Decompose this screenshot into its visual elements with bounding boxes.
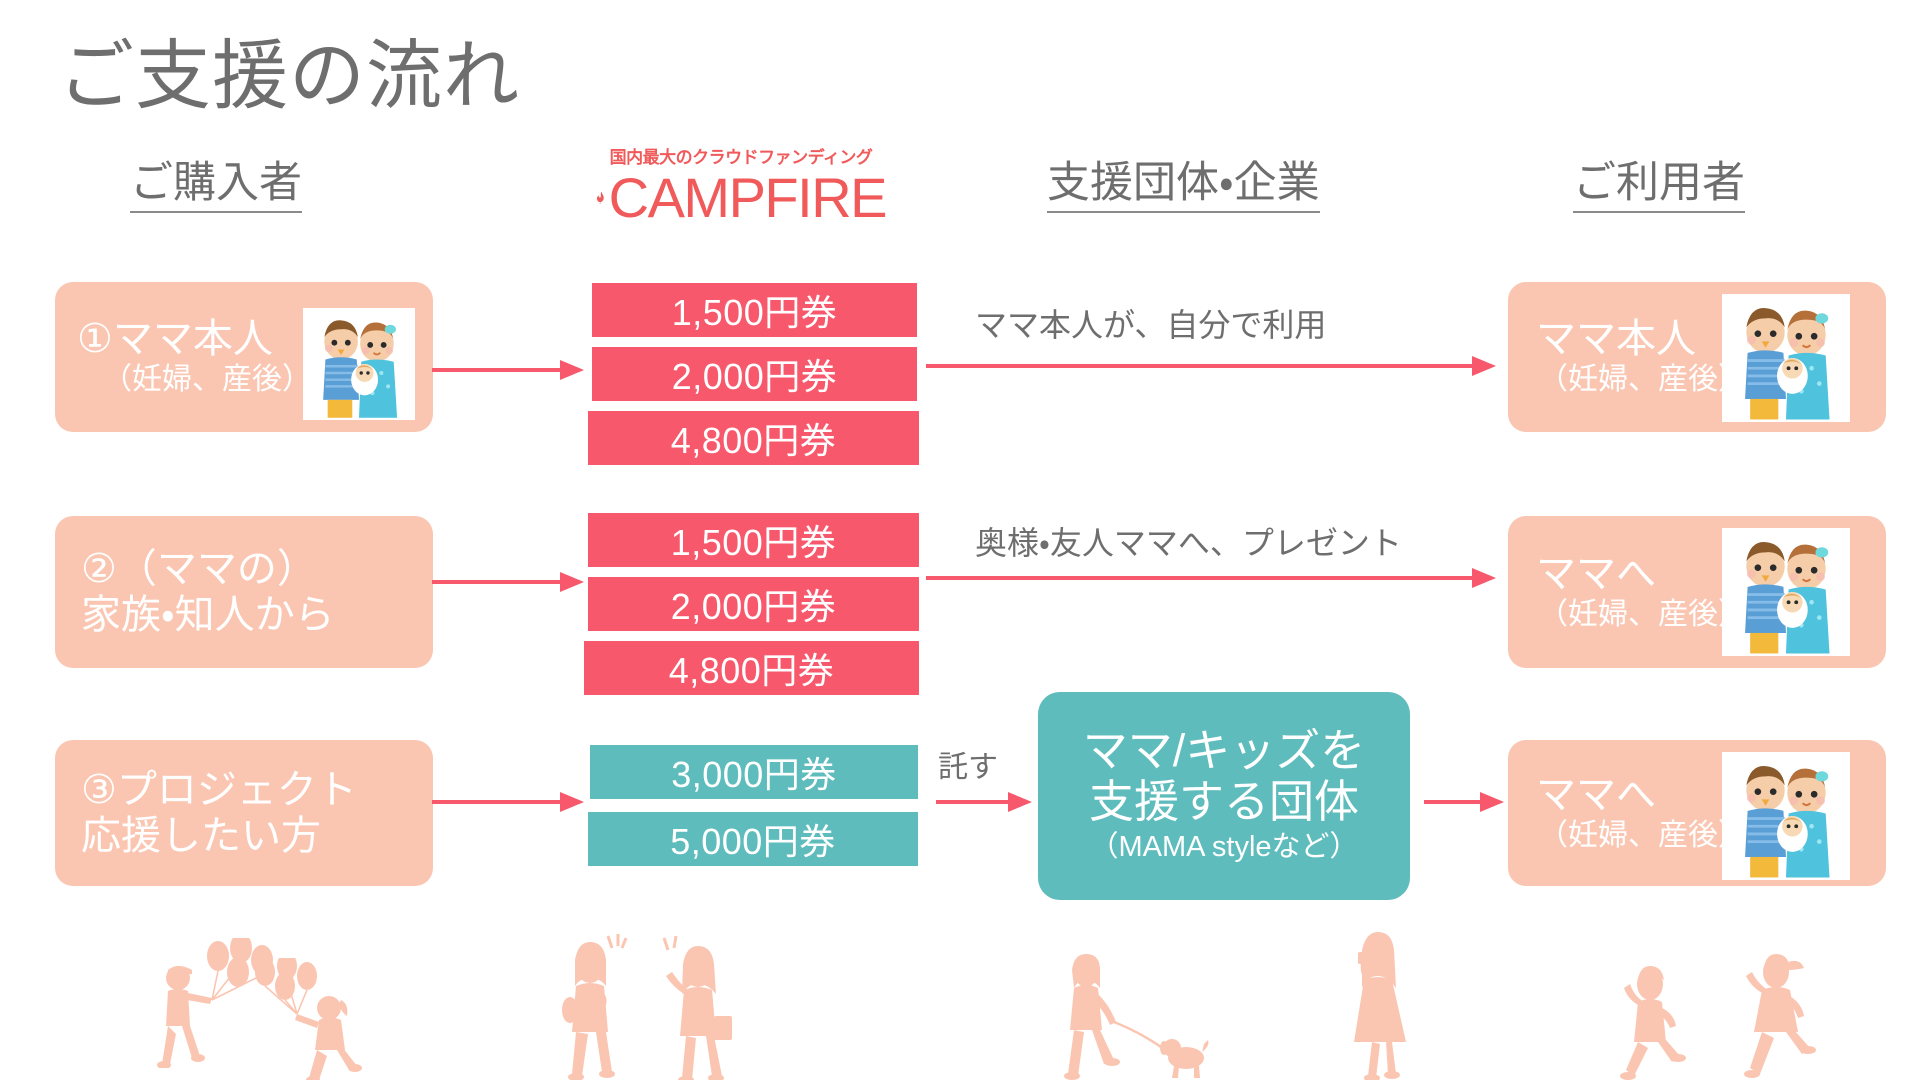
column-header-user: ご利用者 [1573, 160, 1745, 213]
org-label-line1: ママ/キッズを [1083, 725, 1366, 776]
buyer-label-secondary: （妊婦、産後） [77, 362, 433, 398]
flame-icon: c [596, 170, 606, 226]
campfire-logo: 国内最大のクラウドファンディング c CAMPFIRE [596, 148, 886, 226]
user-label-primary: ママ本人 [1536, 316, 1886, 362]
voucher-row-2-1[interactable]: 2,000円券 [588, 577, 919, 631]
buyer-box-row-1: ①ママ本人 （妊婦、産後） [55, 282, 433, 432]
woman-pointing-icon [646, 932, 786, 1080]
woman-with-phone-icon [1320, 928, 1440, 1080]
page-title: ご支援の流れ [58, 14, 520, 124]
arrow-buyer-to-voucher-row-2 [432, 562, 584, 602]
user-box-row-2: ママへ （妊婦、産後） [1508, 516, 1886, 668]
arrow-buyer-to-voucher-row-3 [432, 782, 584, 822]
running-boy-icon [1600, 962, 1710, 1080]
user-box-row-3: ママへ （妊婦、産後） [1508, 740, 1886, 886]
woman-walking-dog-icon [1048, 948, 1238, 1080]
flow-label-row-3: 託す [938, 742, 998, 786]
buyer-label-primary: ①ママ本人 [77, 316, 433, 362]
running-girl-icon [1718, 948, 1838, 1080]
arrow-voucher-to-user-row-2 [926, 558, 1496, 598]
buyer-label-primary: ③プロジェクト [81, 767, 433, 813]
user-label-primary: ママへ [1536, 772, 1886, 818]
girl-with-balloons-icon [245, 958, 405, 1080]
voucher-row-1-1[interactable]: 2,000円券 [592, 347, 917, 401]
voucher-row-1-2[interactable]: 4,800円券 [588, 411, 919, 465]
campfire-wordmark: CAMPFIRE [609, 170, 886, 226]
flow-label-row-1: ママ本人が、自分で利用 [975, 300, 1326, 346]
arrow-voucher-to-user-row-1 [926, 346, 1496, 386]
buyer-box-row-3: ③プロジェクト 応援したい方 [55, 740, 433, 886]
user-box-row-1: ママ本人 （妊婦、産後） [1508, 282, 1886, 432]
user-label-primary: ママへ [1536, 551, 1886, 597]
arrow-buyer-to-voucher-row-1 [432, 350, 584, 390]
buyer-box-row-2: ②（ママの） 家族・知人から [55, 516, 433, 668]
buyer-label-secondary: 応援したい方 [81, 813, 433, 859]
voucher-row-2-2[interactable]: 4,800円券 [584, 641, 919, 695]
voucher-row-2-0[interactable]: 1,500円券 [588, 513, 919, 567]
column-header-organization: 支援団体・企業 [1047, 160, 1320, 213]
buyer-label-secondary: 家族・知人から [81, 592, 433, 638]
voucher-row-3-1[interactable]: 5,000円券 [588, 812, 918, 866]
org-label-line3: （MAMA styleなど） [1089, 829, 1358, 867]
organization-box-row-3: ママ/キッズを 支援する団体 （MAMA styleなど） [1038, 692, 1410, 900]
voucher-row-3-0[interactable]: 3,000円券 [590, 745, 918, 799]
column-header-buyer: ご購入者 [130, 160, 302, 213]
voucher-row-1-0[interactable]: 1,500円券 [592, 283, 917, 337]
user-label-secondary: （妊婦、産後） [1536, 818, 1886, 854]
user-label-secondary: （妊婦、産後） [1536, 362, 1886, 398]
arrow-voucher-to-org-row-3 [936, 782, 1032, 822]
buyer-label-primary: ②（ママの） [81, 546, 433, 592]
campfire-tagline: 国内最大のクラウドファンディング [596, 148, 886, 168]
user-label-secondary: （妊婦、産後） [1536, 597, 1886, 633]
org-label-line2: 支援する団体 [1089, 776, 1359, 827]
arrow-org-to-user-row-3 [1424, 782, 1504, 822]
slide-canvas: ご支援の流れ ご購入者 国内最大のクラウドファンディング c CAMPFIRE … [0, 0, 1920, 1080]
